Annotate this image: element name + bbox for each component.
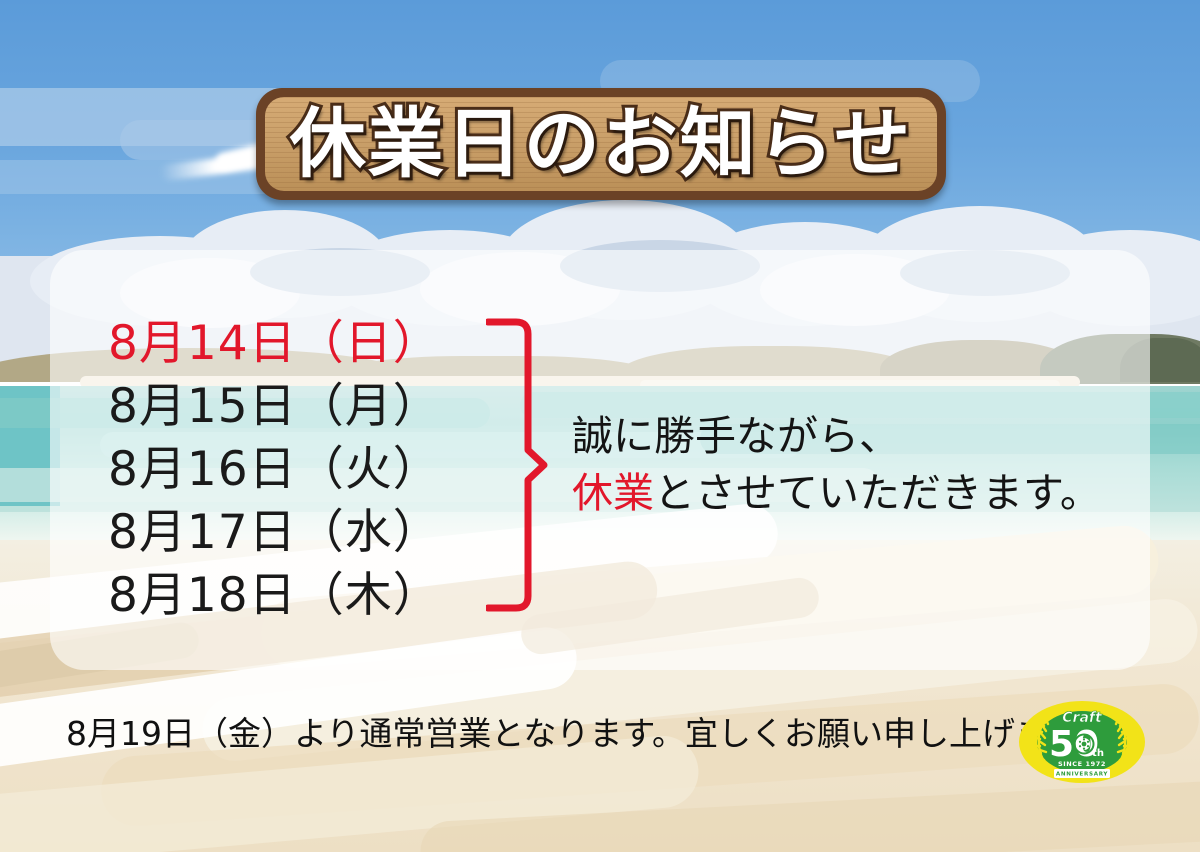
svg-text:th: th bbox=[1092, 748, 1104, 759]
list-item: 8月18日（木） bbox=[108, 564, 508, 627]
closure-notice-poster: 休業日のお知らせ 8月14日（日） 8月15日（月） 8月16日（火） 8月17… bbox=[0, 0, 1200, 852]
craft-50th-anniversary-logo: Craft 50 th SINCE 1972 ANNIVERSARY bbox=[1018, 700, 1146, 784]
list-item: 8月17日（水） bbox=[108, 501, 508, 564]
red-curly-brace bbox=[486, 318, 548, 612]
title-banner: 休業日のお知らせ bbox=[256, 88, 946, 200]
closure-date-list: 8月14日（日） 8月15日（月） 8月16日（火） 8月17日（水） 8月18… bbox=[108, 312, 508, 627]
list-item: 8月15日（月） bbox=[108, 375, 508, 438]
page-title: 休業日のお知らせ bbox=[290, 106, 912, 182]
reopening-note: 8月19日（金）より通常営業となります。宜しくお願い申し上げます。 bbox=[66, 712, 1111, 756]
message-highlight: 休業 bbox=[572, 469, 654, 517]
message-line-1: 誠に勝手ながら、 bbox=[572, 408, 1172, 465]
svg-text:SINCE 1972: SINCE 1972 bbox=[1058, 760, 1106, 768]
message-rest: とさせていただきます。 bbox=[654, 469, 1101, 517]
message-line-2: 休業とさせていただきます。 bbox=[572, 465, 1172, 522]
svg-text:ANNIVERSARY: ANNIVERSARY bbox=[1056, 772, 1109, 778]
closure-message: 誠に勝手ながら、 休業とさせていただきます。 bbox=[572, 408, 1172, 522]
list-item: 8月14日（日） bbox=[108, 312, 508, 375]
list-item: 8月16日（火） bbox=[108, 438, 508, 501]
